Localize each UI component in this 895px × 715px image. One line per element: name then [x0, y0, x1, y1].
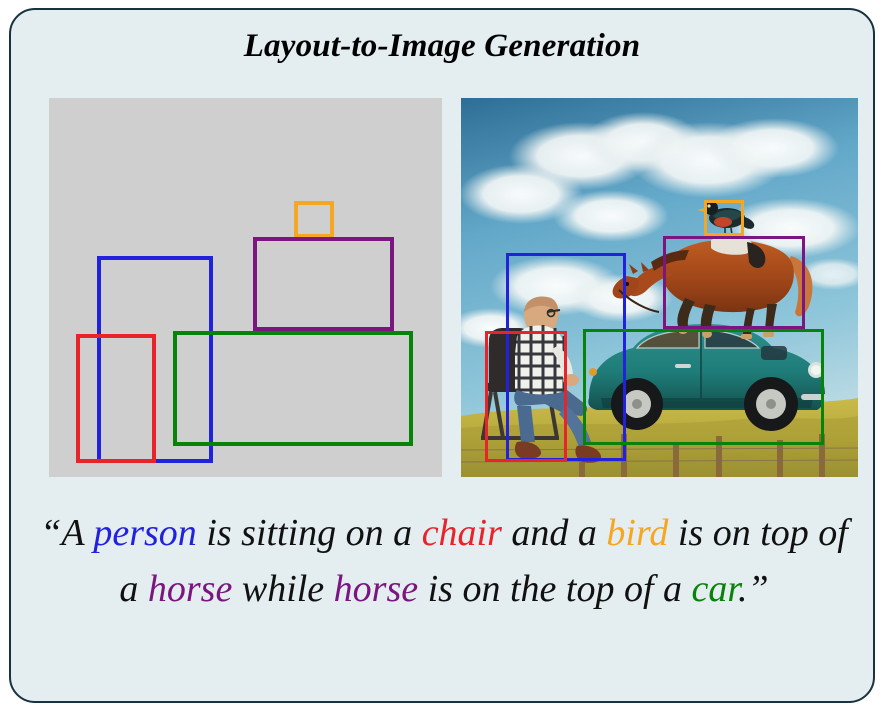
caption-text: “A person is sitting on a chair and a bi…: [37, 505, 851, 617]
caption-segment-1: person: [93, 512, 196, 554]
caption-segment-4: and a: [502, 512, 607, 554]
caption-segment-2: is sitting on a: [197, 512, 422, 554]
bbox-chair: [76, 334, 156, 463]
bbox-bird: [704, 200, 744, 236]
bbox-horse: [253, 237, 394, 331]
bbox-car: [583, 329, 824, 445]
layout-input-panel: [49, 98, 442, 477]
caption-segment-3: chair: [422, 512, 502, 554]
page-title: Layout-to-Image Generation: [11, 28, 873, 65]
bbox-chair: [485, 331, 567, 462]
caption-segment-0: A: [61, 512, 93, 554]
bbox-bird: [294, 201, 334, 238]
caption-segment-9: horse: [334, 568, 418, 610]
caption-close-quote: .”: [738, 568, 769, 610]
caption-segment-8: while: [232, 568, 333, 610]
caption-segment-11: car: [692, 568, 738, 610]
bbox-car: [173, 331, 413, 446]
caption-open-quote: “: [40, 512, 61, 554]
caption-segment-5: bird: [606, 512, 668, 554]
caption-segment-10: is on the top of a: [418, 568, 691, 610]
bbox-horse: [663, 236, 805, 329]
caption-segment-7: horse: [148, 568, 232, 610]
generated-image-panel: [461, 98, 858, 477]
figure-card: Layout-to-Image Generation: [9, 8, 875, 703]
